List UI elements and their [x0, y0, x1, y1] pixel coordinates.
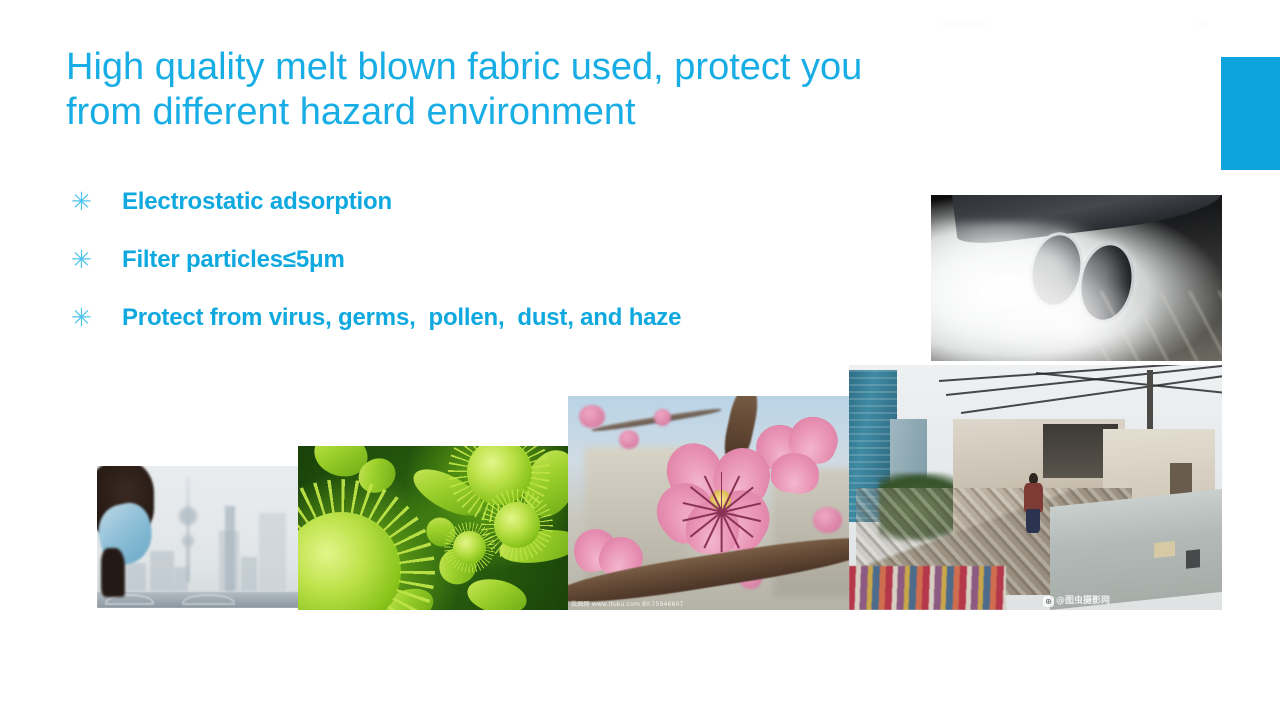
- bullet-text: Electrostatic adsorption: [122, 185, 392, 219]
- photo-smog-city: [97, 466, 300, 608]
- list-item: ✳ Filter particles≤5μm: [66, 243, 886, 301]
- person-legs: [1026, 509, 1040, 533]
- smog-building: [174, 567, 188, 591]
- virus-spiky: [298, 512, 401, 610]
- asterisk-bullet-icon: ✳: [66, 243, 122, 277]
- smog-bridge: [97, 592, 300, 608]
- bullet-list: ✳ Electrostatic adsorption ✳ Filter part…: [66, 185, 886, 359]
- flower-bud: [654, 409, 671, 426]
- accent-rectangle: [1221, 57, 1280, 170]
- person-torso: [1024, 483, 1043, 511]
- person-neck: [101, 548, 125, 596]
- exhaust-smoke: [983, 275, 1163, 361]
- smog-building: [127, 563, 145, 591]
- photo-demolition-dust: ⊕@图虫摄影网: [849, 365, 1222, 610]
- virus-spiky: [453, 531, 486, 564]
- stamen: [721, 512, 723, 552]
- bullet-text: Protect from virus, germs, pollen, dust,…: [122, 301, 681, 335]
- slide-title: High quality melt blown fabric used, pro…: [66, 45, 1026, 135]
- smog-building: [259, 513, 285, 591]
- wall-patch: [1154, 541, 1175, 558]
- person-on-rubble: [1024, 473, 1043, 532]
- flower-bud: [813, 507, 842, 533]
- wall-window: [1186, 549, 1200, 569]
- photo-car-exhaust: [931, 195, 1222, 361]
- list-item: ✳ Electrostatic adsorption: [66, 185, 886, 243]
- blossom-stamen-center: [710, 490, 732, 510]
- faint-mark-right: [1196, 22, 1210, 29]
- faint-mark-left: [940, 22, 988, 28]
- smog-building: [150, 551, 174, 591]
- photo-pollen-blossom: 我图网 www.ituku.com BY:75946607: [568, 396, 853, 610]
- slide-canvas: High quality melt blown fabric used, pro…: [0, 0, 1280, 720]
- asterisk-bullet-icon: ✳: [66, 301, 122, 335]
- virus-spiky: [494, 502, 540, 548]
- asterisk-bullet-icon: ✳: [66, 185, 122, 219]
- hanging-laundry: [849, 566, 1006, 610]
- smog-building: [225, 506, 235, 591]
- photo-germs: [298, 446, 570, 610]
- blossom-main: [662, 443, 782, 554]
- bullet-text: Filter particles≤5μm: [122, 243, 345, 277]
- stamen: [721, 472, 723, 512]
- flower-bud: [579, 405, 605, 429]
- foreground-wall: [1050, 488, 1222, 610]
- list-item: ✳ Protect from virus, germs, pollen, dus…: [66, 301, 886, 359]
- smog-building: [241, 557, 257, 591]
